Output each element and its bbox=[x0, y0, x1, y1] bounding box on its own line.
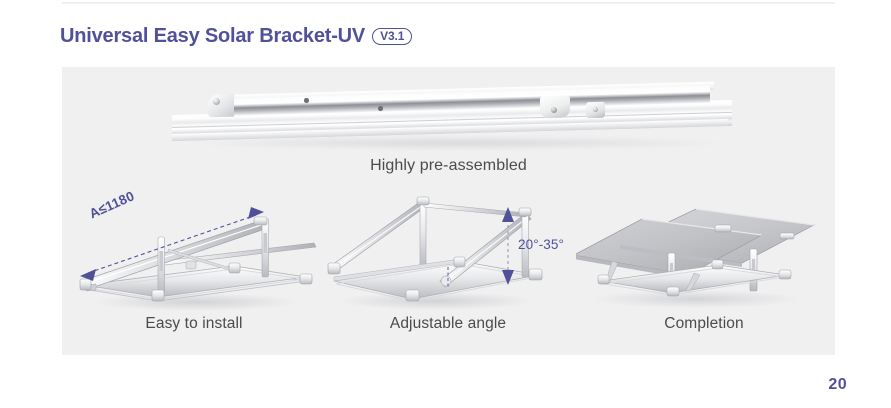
rail-mid-clamp-bolt-icon bbox=[551, 107, 557, 113]
step-caption: Adjustable angle bbox=[320, 315, 576, 333]
rail-bolt-icon bbox=[304, 98, 309, 103]
dimension-label-angle: 20°-35° bbox=[518, 237, 564, 252]
hero-product-image bbox=[172, 85, 732, 157]
bracket-angle-illustration bbox=[320, 189, 576, 315]
completed-assembly-illustration bbox=[576, 189, 832, 315]
header-divider bbox=[62, 2, 835, 4]
rail-bolt-icon bbox=[378, 106, 383, 111]
page-number: 20 bbox=[828, 376, 847, 394]
page-title: Universal Easy Solar Bracket-UV V3.1 bbox=[60, 26, 412, 46]
rail-end-clamp-bolt-icon bbox=[593, 107, 598, 112]
rail-end-cap-bolt-icon bbox=[213, 98, 220, 105]
step-caption: Completion bbox=[576, 315, 832, 333]
step-gallery: A≤1180 Easy to install bbox=[62, 189, 835, 355]
dimension-arrow-angle bbox=[502, 207, 514, 285]
page-title-text: Universal Easy Solar Bracket-UV bbox=[60, 26, 365, 46]
rail-end-cap bbox=[208, 94, 234, 118]
step-item-adjustable-angle: 20°-35° Adjustable angle bbox=[320, 189, 576, 355]
hero-caption: Highly pre-assembled bbox=[62, 157, 835, 175]
step-caption: Easy to install bbox=[66, 315, 322, 333]
step-item-completion: Completion bbox=[576, 189, 832, 355]
rail-shadow bbox=[190, 137, 730, 149]
content-panel: Highly pre-assembled bbox=[62, 67, 835, 355]
version-badge: V3.1 bbox=[372, 28, 412, 45]
step-item-easy-to-install: A≤1180 Easy to install bbox=[66, 189, 322, 355]
